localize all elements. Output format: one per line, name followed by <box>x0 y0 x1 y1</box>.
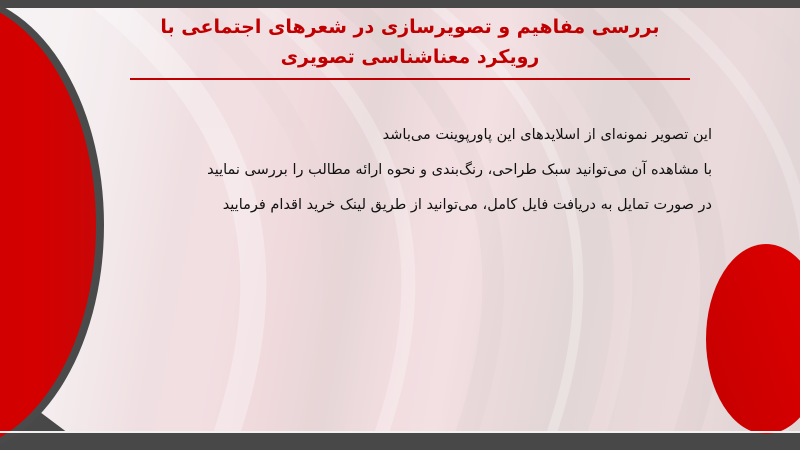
slide-title: بررسی مفاهیم و تصویرسازی در شعرهای اجتما… <box>120 12 700 72</box>
body-line-3: در صورت تمایل به دریافت فایل کامل، می‌تو… <box>60 188 712 223</box>
title-line-1: بررسی مفاهیم و تصویرسازی در شعرهای اجتما… <box>120 12 700 42</box>
slide-body-text: این تصویر نمونه‌ای از اسلایدهای این پاور… <box>60 118 712 223</box>
body-line-1: این تصویر نمونه‌ای از اسلایدهای این پاور… <box>60 118 712 153</box>
body-line-2: با مشاهده آن می‌توانید سبک طراحی، رنگ‌بن… <box>60 153 712 188</box>
slide-content: بررسی مفاهیم و تصویرسازی در شعرهای اجتما… <box>0 0 800 450</box>
title-line-2: رویکرد معناشناسی تصویری <box>120 42 700 72</box>
presentation-slide: بررسی مفاهیم و تصویرسازی در شعرهای اجتما… <box>0 0 800 450</box>
title-underline-rule <box>130 78 690 80</box>
